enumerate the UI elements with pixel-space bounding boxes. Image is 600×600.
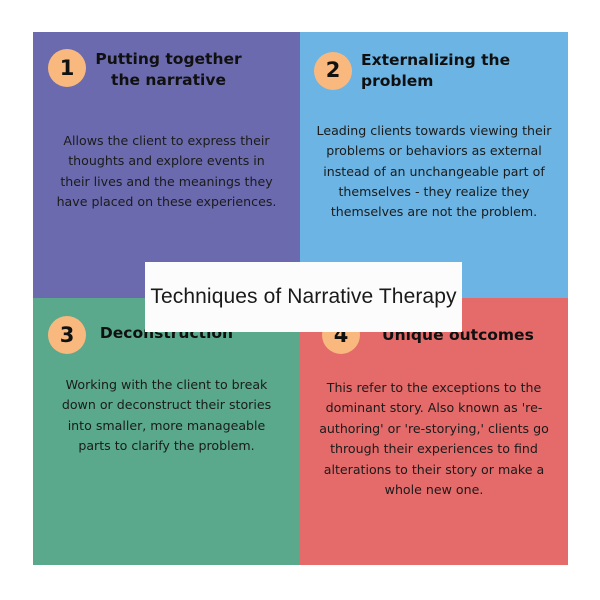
quadrant-1-body: Allows the client to express their thoug… bbox=[56, 131, 278, 213]
quadrant-1-putting-together-the-narrative: 1 Putting together the narrative Allows … bbox=[33, 32, 300, 298]
page-title: Techniques of Narrative Therapy bbox=[150, 285, 456, 309]
number-badge-2: 2 bbox=[314, 52, 352, 90]
number-badge-3: 3 bbox=[48, 316, 86, 354]
center-title-band: Techniques of Narrative Therapy bbox=[145, 262, 462, 332]
quadrant-3-body: Working with the client to break down or… bbox=[62, 375, 272, 457]
quadrant-4-unique-outcomes: 4 Unique outcomes This refer to the exce… bbox=[300, 298, 568, 565]
quadrant-4-body: This refer to the exceptions to the domi… bbox=[316, 378, 552, 500]
quadrant-2-body: Leading clients towards viewing their pr… bbox=[313, 121, 556, 223]
quadrant-2-externalizing-the-problem: 2 Externalizing the problem Leading clie… bbox=[300, 32, 568, 298]
quadrant-1-header: 1 Putting together the narrative bbox=[33, 32, 300, 91]
number-badge-1: 1 bbox=[48, 49, 86, 87]
quadrant-1-title: Putting together the narrative bbox=[61, 49, 259, 91]
quadrant-2-header: 2 Externalizing the problem bbox=[300, 32, 568, 92]
quadrant-2-title: Externalizing the problem bbox=[361, 50, 554, 92]
infographic-canvas: 1 Putting together the narrative Allows … bbox=[0, 0, 600, 600]
quadrant-3-deconstruction: 3 Deconstruction Working with the client… bbox=[33, 298, 300, 565]
